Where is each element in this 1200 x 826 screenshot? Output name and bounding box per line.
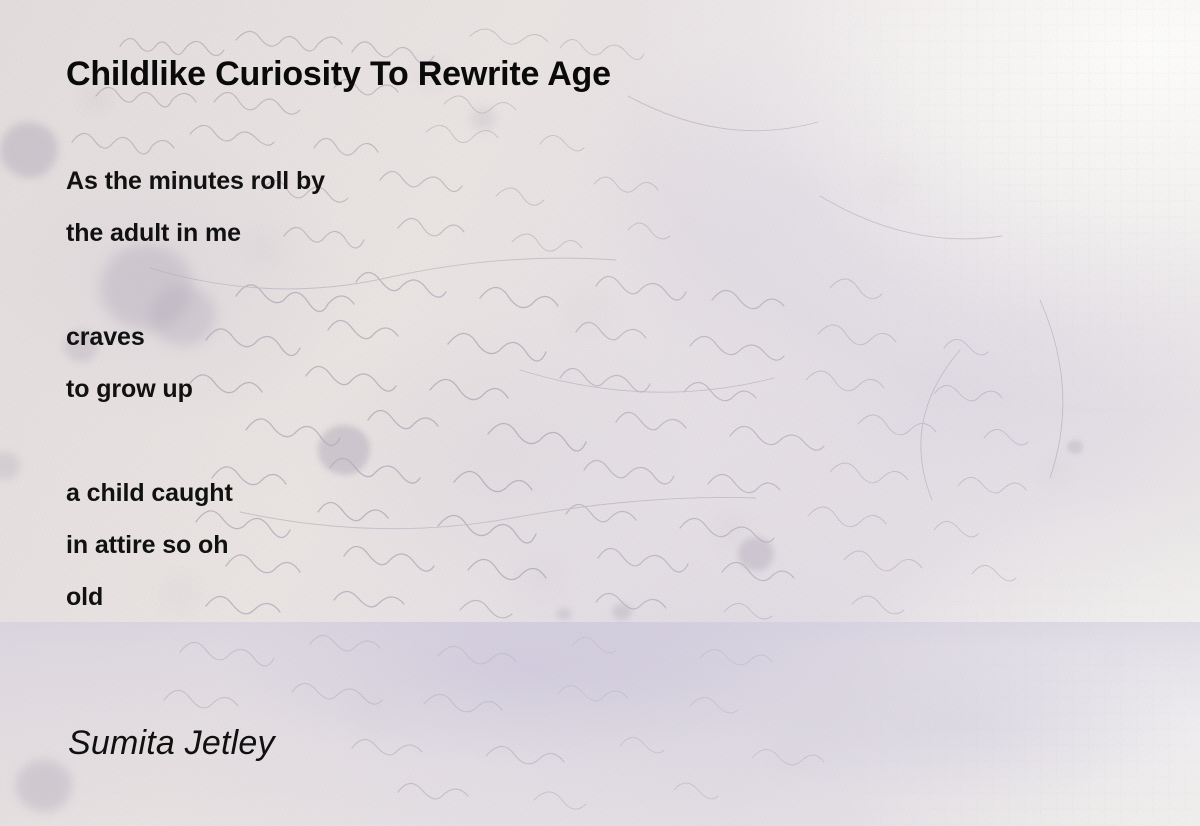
- poem-line-blank: [66, 415, 766, 467]
- page-title: Childlike Curiosity To Rewrite Age: [66, 55, 611, 94]
- poem-line: to grow up: [66, 363, 766, 415]
- poem-line: As the minutes roll by: [66, 155, 766, 207]
- poem-line: the adult in me: [66, 207, 766, 259]
- poem-line: a child caught: [66, 467, 766, 519]
- poem-line: craves: [66, 311, 766, 363]
- poem-line: old: [66, 571, 766, 623]
- poem-line: in attire so oh: [66, 519, 766, 571]
- poem-text-block: Childlike Curiosity To Rewrite Age As th…: [0, 0, 1200, 826]
- poem-body: As the minutes roll bythe adult in me cr…: [66, 155, 766, 623]
- author-name: Sumita Jetley: [68, 724, 275, 763]
- poem-line-blank: [66, 259, 766, 311]
- poem-image-canvas: Childlike Curiosity To Rewrite Age As th…: [0, 0, 1200, 826]
